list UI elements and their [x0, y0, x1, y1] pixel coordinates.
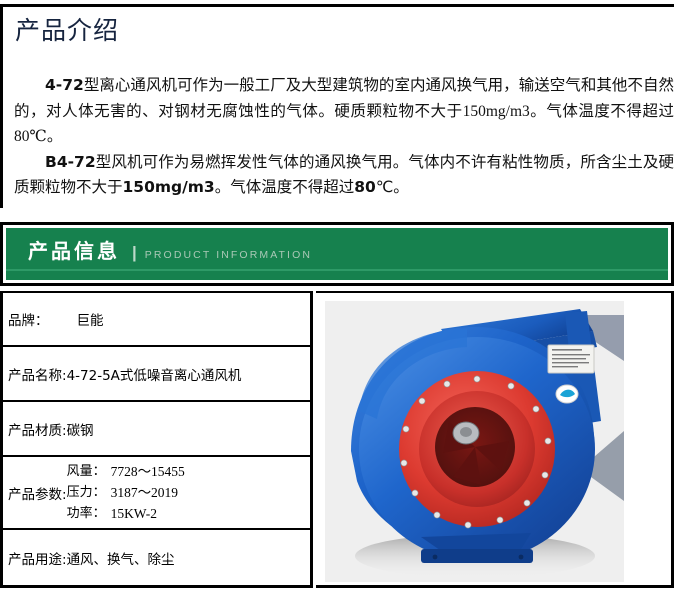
- parameter-airflow-key: 风量：: [67, 461, 111, 482]
- intro-body: 4-72型离心通风机可作为一般工厂及大型建筑物的室内通风换气用，输送空气和其他不…: [14, 73, 674, 201]
- intro-paragraph-1: 4-72型离心通风机可作为一般工厂及大型建筑物的室内通风换气用，输送空气和其他不…: [14, 73, 674, 150]
- product-photo: [325, 301, 624, 582]
- section-header-rule: [6, 269, 668, 271]
- section-header-content: 产品信息 | PRODUCT INFORMATION: [28, 239, 312, 265]
- parameter-pressure: 压力： 3187～2019: [67, 482, 185, 503]
- row-label-brand: 品牌：: [8, 309, 49, 329]
- section-header-box: 产品信息 | PRODUCT INFORMATION: [0, 222, 674, 286]
- product-detail-section: 品牌： 巨能 产品名称: 4-72-5A式低噪音离心通风机 产品材质: 碳钢 产…: [0, 291, 674, 589]
- parameter-airflow-value: 7728～15455: [111, 461, 185, 482]
- intro-paragraph-2: B4-72型风机可作为易燃挥发性气体的通风换气用。气体内不许有粘性物质，所含尘土…: [14, 150, 674, 201]
- parameter-power: 功率： 15KW-2: [67, 503, 185, 524]
- parameter-pressure-key: 压力：: [67, 482, 111, 503]
- row-value-material: 碳钢: [67, 419, 94, 439]
- parameter-airflow: 风量： 7728～15455: [67, 461, 185, 482]
- row-label-parameters: 产品参数:: [8, 483, 67, 503]
- table-row-material: 产品材质: 碳钢: [3, 402, 310, 457]
- section-header-bar: 产品信息 | PRODUCT INFORMATION: [6, 228, 668, 280]
- spec-dust-limit-2: 150mg/m3: [123, 178, 215, 196]
- row-label-product-name: 产品名称:: [8, 364, 67, 384]
- parameter-power-key: 功率：: [67, 503, 111, 524]
- table-row-parameters: 产品参数: 风量： 7728～15455 压力： 3187～2019 功率： 1: [3, 457, 310, 530]
- model-b4-72: B4-72: [45, 153, 96, 171]
- spec-dust-limit-1: 150mg/m3: [463, 103, 530, 120]
- parameter-pressure-value: 3187～2019: [111, 482, 179, 503]
- page-title: 产品介绍: [15, 17, 119, 47]
- parameters-list: 风量： 7728～15455 压力： 3187～2019 功率： 15KW-2: [67, 461, 185, 524]
- section-title-separator: |: [132, 243, 137, 263]
- model-4-72: 4-72: [45, 76, 84, 94]
- intro-paragraph-2-mid: 。气体温度不得超过: [215, 178, 355, 196]
- row-value-usage: 通风、换气、除尘: [67, 548, 175, 568]
- intro-paragraph-2-tail: ℃。: [376, 178, 409, 196]
- section-title-cn: 产品信息: [28, 239, 120, 263]
- centrifugal-fan-illustration: [325, 301, 624, 582]
- spec-temp-limit: 80: [354, 178, 376, 196]
- row-label-usage: 产品用途:: [8, 548, 67, 568]
- table-row-brand: 品牌： 巨能: [3, 293, 310, 347]
- row-value-brand: 巨能: [77, 309, 104, 329]
- row-label-material: 产品材质:: [8, 419, 67, 439]
- product-photo-panel: [316, 291, 674, 588]
- row-value-product-name: 4-72-5A式低噪音离心通风机: [67, 364, 242, 384]
- product-info-table: 品牌： 巨能 产品名称: 4-72-5A式低噪音离心通风机 产品材质: 碳钢 产…: [0, 291, 313, 588]
- table-row-product-name: 产品名称: 4-72-5A式低噪音离心通风机: [3, 347, 310, 402]
- parameters-wrapper: 产品参数: 风量： 7728～15455 压力： 3187～2019 功率： 1: [8, 461, 310, 524]
- product-intro-box: 产品介绍 4-72型离心通风机可作为一般工厂及大型建筑物的室内通风换气用，输送空…: [0, 4, 674, 208]
- product-detail-page: 产品介绍 4-72型离心通风机可作为一般工厂及大型建筑物的室内通风换气用，输送空…: [0, 0, 674, 592]
- section-title-en: PRODUCT INFORMATION: [145, 245, 312, 265]
- table-row-usage: 产品用途: 通风、换气、除尘: [3, 530, 310, 585]
- parameter-power-value: 15KW-2: [111, 503, 158, 524]
